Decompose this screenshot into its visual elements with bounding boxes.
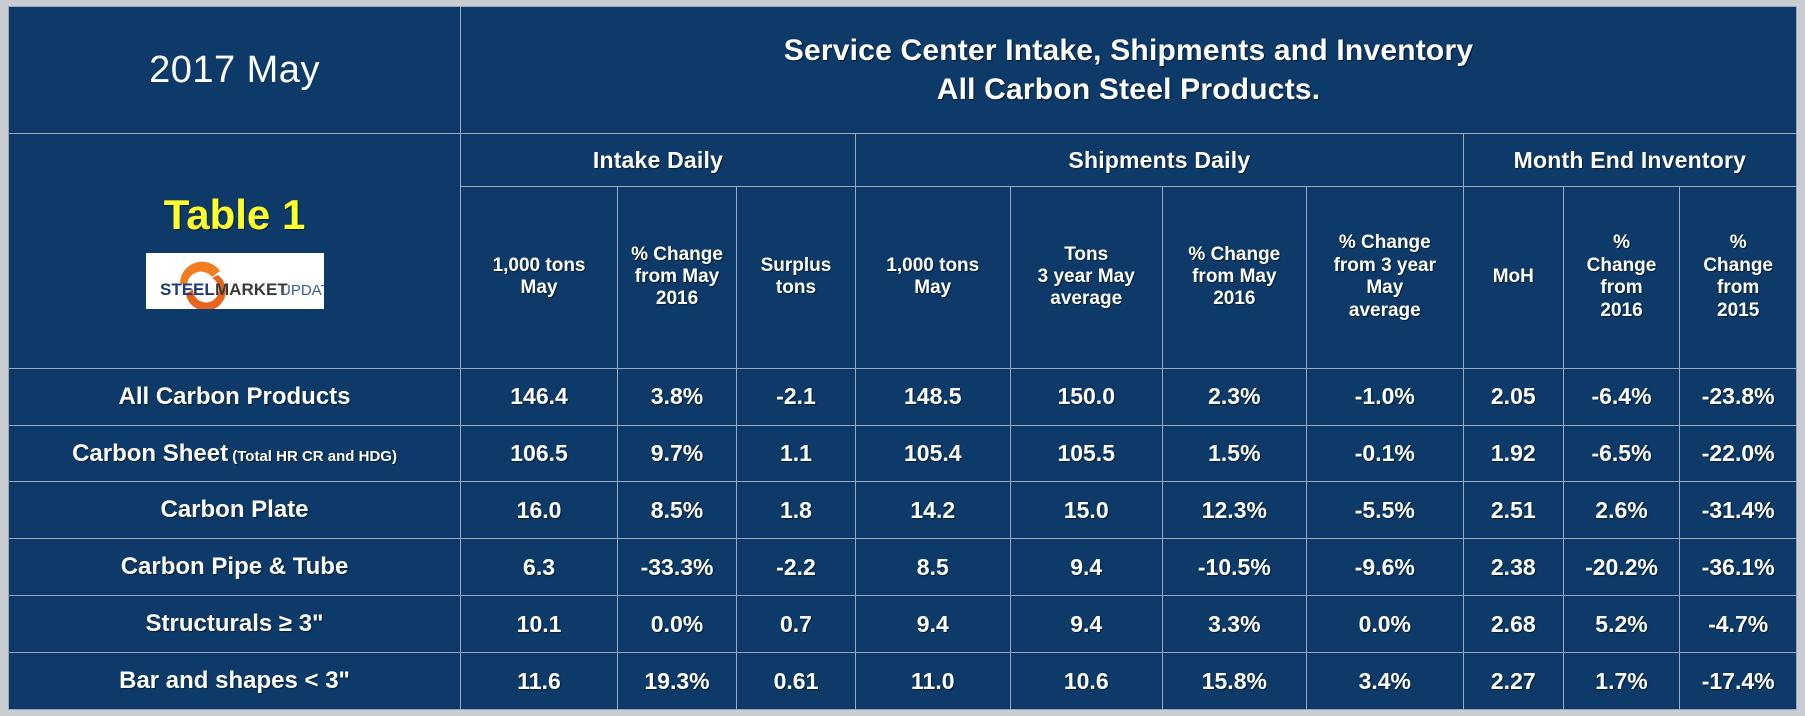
table-cell: -0.1%	[1306, 425, 1463, 482]
row-label: Carbon Sheet (Total HR CR and HDG)	[9, 425, 461, 482]
smu-logo-mark-icon: STEEL MARKET UPDATE	[146, 253, 324, 309]
table-row: All Carbon Products146.43.8%-2.1148.5150…	[9, 368, 1797, 425]
column-header-moh: MoH	[1463, 186, 1563, 368]
report-title: Service Center Intake, Shipments and Inv…	[461, 7, 1797, 134]
row-label-text: All Carbon Products	[119, 383, 351, 410]
period-label: 2017 May	[9, 7, 461, 134]
row-label-text: Bar and shapes < 3"	[119, 667, 350, 694]
header-line: 3 year May	[1013, 266, 1160, 288]
header-line: % Change	[1309, 232, 1461, 254]
table-cell: -36.1%	[1680, 539, 1797, 596]
header-line: 2016	[1165, 288, 1304, 310]
table-cell: 9.4	[1010, 596, 1162, 653]
svg-text:MARKET: MARKET	[215, 280, 288, 299]
header-line: %	[1682, 232, 1794, 254]
column-header-intake-pct-change-2016: % Change from May 2016	[618, 186, 737, 368]
header-line: % Change	[1165, 244, 1304, 266]
header-line: May	[858, 277, 1008, 299]
table-sheet: 2017 May Service Center Intake, Shipment…	[8, 6, 1797, 710]
column-header-inventory-pct-change-2016: % Change from 2016	[1563, 186, 1680, 368]
row-label-note: (Total HR CR and HDG)	[228, 448, 397, 465]
table-cell: 105.4	[855, 425, 1010, 482]
table-cell: -10.5%	[1162, 539, 1306, 596]
header-line: Change	[1682, 255, 1794, 277]
table-cell: -2.2	[737, 539, 856, 596]
group-header-shipments-daily: Shipments Daily	[855, 134, 1463, 186]
table-cell: 146.4	[461, 368, 618, 425]
table-identity-cell: Table 1 STEEL MARKET UPDATE	[9, 134, 461, 368]
table-cell: 2.27	[1463, 653, 1563, 710]
header-line: 2015	[1682, 300, 1794, 322]
report-title-line1: Service Center Intake, Shipments and Inv…	[463, 31, 1794, 71]
header-line: from	[1566, 277, 1678, 299]
table-row: Structurals ≥ 3"10.10.0%0.79.49.43.3%0.0…	[9, 596, 1797, 653]
column-header-shipments-tons: 1,000 tons May	[855, 186, 1010, 368]
table-cell: -9.6%	[1306, 539, 1463, 596]
header-line: from 3 year	[1309, 255, 1461, 277]
table-cell: 1.1	[737, 425, 856, 482]
row-label: Bar and shapes < 3"	[9, 653, 461, 710]
header-line: Tons	[1013, 244, 1160, 266]
table-cell: 9.7%	[618, 425, 737, 482]
table-cell: 16.0	[461, 482, 618, 539]
table-cell: 1.7%	[1563, 653, 1680, 710]
table-row: Carbon Sheet (Total HR CR and HDG)106.59…	[9, 425, 1797, 482]
table-cell: -22.0%	[1680, 425, 1797, 482]
table-cell: -5.5%	[1306, 482, 1463, 539]
header-line: Change	[1566, 255, 1678, 277]
smu-logo: STEEL MARKET UPDATE	[146, 253, 324, 309]
group-header-row: Table 1 STEEL MARKET UPDATE Intake Daily…	[9, 134, 1797, 186]
svg-text:UPDATE: UPDATE	[280, 282, 324, 299]
table-cell: -6.4%	[1563, 368, 1680, 425]
table-cell: 8.5	[855, 539, 1010, 596]
header-line: %	[1566, 232, 1678, 254]
row-label: All Carbon Products	[9, 368, 461, 425]
table-cell: 12.3%	[1162, 482, 1306, 539]
column-header-shipments-pct-change-2016: % Change from May 2016	[1162, 186, 1306, 368]
table-row: Carbon Plate16.08.5%1.814.215.012.3%-5.5…	[9, 482, 1797, 539]
table-cell: 14.2	[855, 482, 1010, 539]
row-label-text: Carbon Pipe & Tube	[121, 553, 349, 580]
table-cell: 0.61	[737, 653, 856, 710]
header-line: average	[1309, 300, 1461, 322]
table-cell: -1.0%	[1306, 368, 1463, 425]
table-cell: -17.4%	[1680, 653, 1797, 710]
table-cell: -23.8%	[1680, 368, 1797, 425]
table-cell: 0.7	[737, 596, 856, 653]
header-line: Surplus	[739, 255, 853, 277]
table-cell: 9.4	[1010, 539, 1162, 596]
group-header-intake-daily: Intake Daily	[461, 134, 856, 186]
table-cell: 15.8%	[1162, 653, 1306, 710]
row-label-text: Structurals ≥ 3"	[146, 610, 324, 637]
row-label-text: Carbon Sheet	[72, 440, 228, 467]
header-line: May	[463, 277, 615, 299]
data-table: 2017 May Service Center Intake, Shipment…	[8, 6, 1797, 710]
report-title-line2: All Carbon Steel Products.	[463, 70, 1794, 110]
header-line: from May	[1165, 266, 1304, 288]
table-cell: 2.05	[1463, 368, 1563, 425]
table-cell: 106.5	[461, 425, 618, 482]
header-line: % Change	[620, 244, 734, 266]
table-cell: 2.3%	[1162, 368, 1306, 425]
table-cell: 10.6	[1010, 653, 1162, 710]
row-label-text: Carbon Plate	[161, 496, 309, 523]
table-cell: 9.4	[855, 596, 1010, 653]
table-cell: 11.0	[855, 653, 1010, 710]
column-header-shipments-3yr-avg: Tons 3 year May average	[1010, 186, 1162, 368]
header-line: 1,000 tons	[463, 255, 615, 277]
table-cell: 6.3	[461, 539, 618, 596]
row-label: Carbon Pipe & Tube	[9, 539, 461, 596]
header-line: 2016	[1566, 300, 1678, 322]
group-header-month-end-inventory: Month End Inventory	[1463, 134, 1796, 186]
table-cell: 105.5	[1010, 425, 1162, 482]
header-line: tons	[739, 277, 853, 299]
table-cell: 2.51	[1463, 482, 1563, 539]
table-cell: 2.38	[1463, 539, 1563, 596]
table-cell: -31.4%	[1680, 482, 1797, 539]
table-cell: -4.7%	[1680, 596, 1797, 653]
table-cell: 19.3%	[618, 653, 737, 710]
table-cell: 1.8	[737, 482, 856, 539]
table-cell: -33.3%	[618, 539, 737, 596]
table-cell: -6.5%	[1563, 425, 1680, 482]
row-label: Carbon Plate	[9, 482, 461, 539]
table-cell: 148.5	[855, 368, 1010, 425]
table-cell: 5.2%	[1563, 596, 1680, 653]
header-line: from May	[620, 266, 734, 288]
table-cell: -2.1	[737, 368, 856, 425]
table-cell: 8.5%	[618, 482, 737, 539]
header-line: MoH	[1466, 266, 1561, 288]
header-line: May	[1309, 277, 1461, 299]
title-row: 2017 May Service Center Intake, Shipment…	[9, 7, 1797, 134]
table-cell: 2.68	[1463, 596, 1563, 653]
table-cell: 1.5%	[1162, 425, 1306, 482]
table-number: Table 1	[11, 193, 458, 237]
table-cell: 2.6%	[1563, 482, 1680, 539]
header-line: from	[1682, 277, 1794, 299]
table-cell: 3.3%	[1162, 596, 1306, 653]
table-cell: 0.0%	[618, 596, 737, 653]
table-cell: 3.8%	[618, 368, 737, 425]
column-header-surplus-tons: Surplus tons	[737, 186, 856, 368]
column-header-inventory-pct-change-2015: % Change from 2015	[1680, 186, 1797, 368]
table-cell: 11.6	[461, 653, 618, 710]
table-row: Bar and shapes < 3"11.619.3%0.6111.010.6…	[9, 653, 1797, 710]
header-line: average	[1013, 288, 1160, 310]
table-cell: 1.92	[1463, 425, 1563, 482]
svg-text:STEEL: STEEL	[160, 280, 215, 299]
table-cell: 150.0	[1010, 368, 1162, 425]
header-line: 2016	[620, 288, 734, 310]
row-label: Structurals ≥ 3"	[9, 596, 461, 653]
header-line: 1,000 tons	[858, 255, 1008, 277]
table-row: Carbon Pipe & Tube6.3-33.3%-2.28.59.4-10…	[9, 539, 1797, 596]
table-cell: 15.0	[1010, 482, 1162, 539]
table-cell: 10.1	[461, 596, 618, 653]
column-header-intake-tons: 1,000 tons May	[461, 186, 618, 368]
table-cell: 0.0%	[1306, 596, 1463, 653]
column-header-shipments-pct-change-3yr: % Change from 3 year May average	[1306, 186, 1463, 368]
table-cell: 3.4%	[1306, 653, 1463, 710]
table-cell: -20.2%	[1563, 539, 1680, 596]
